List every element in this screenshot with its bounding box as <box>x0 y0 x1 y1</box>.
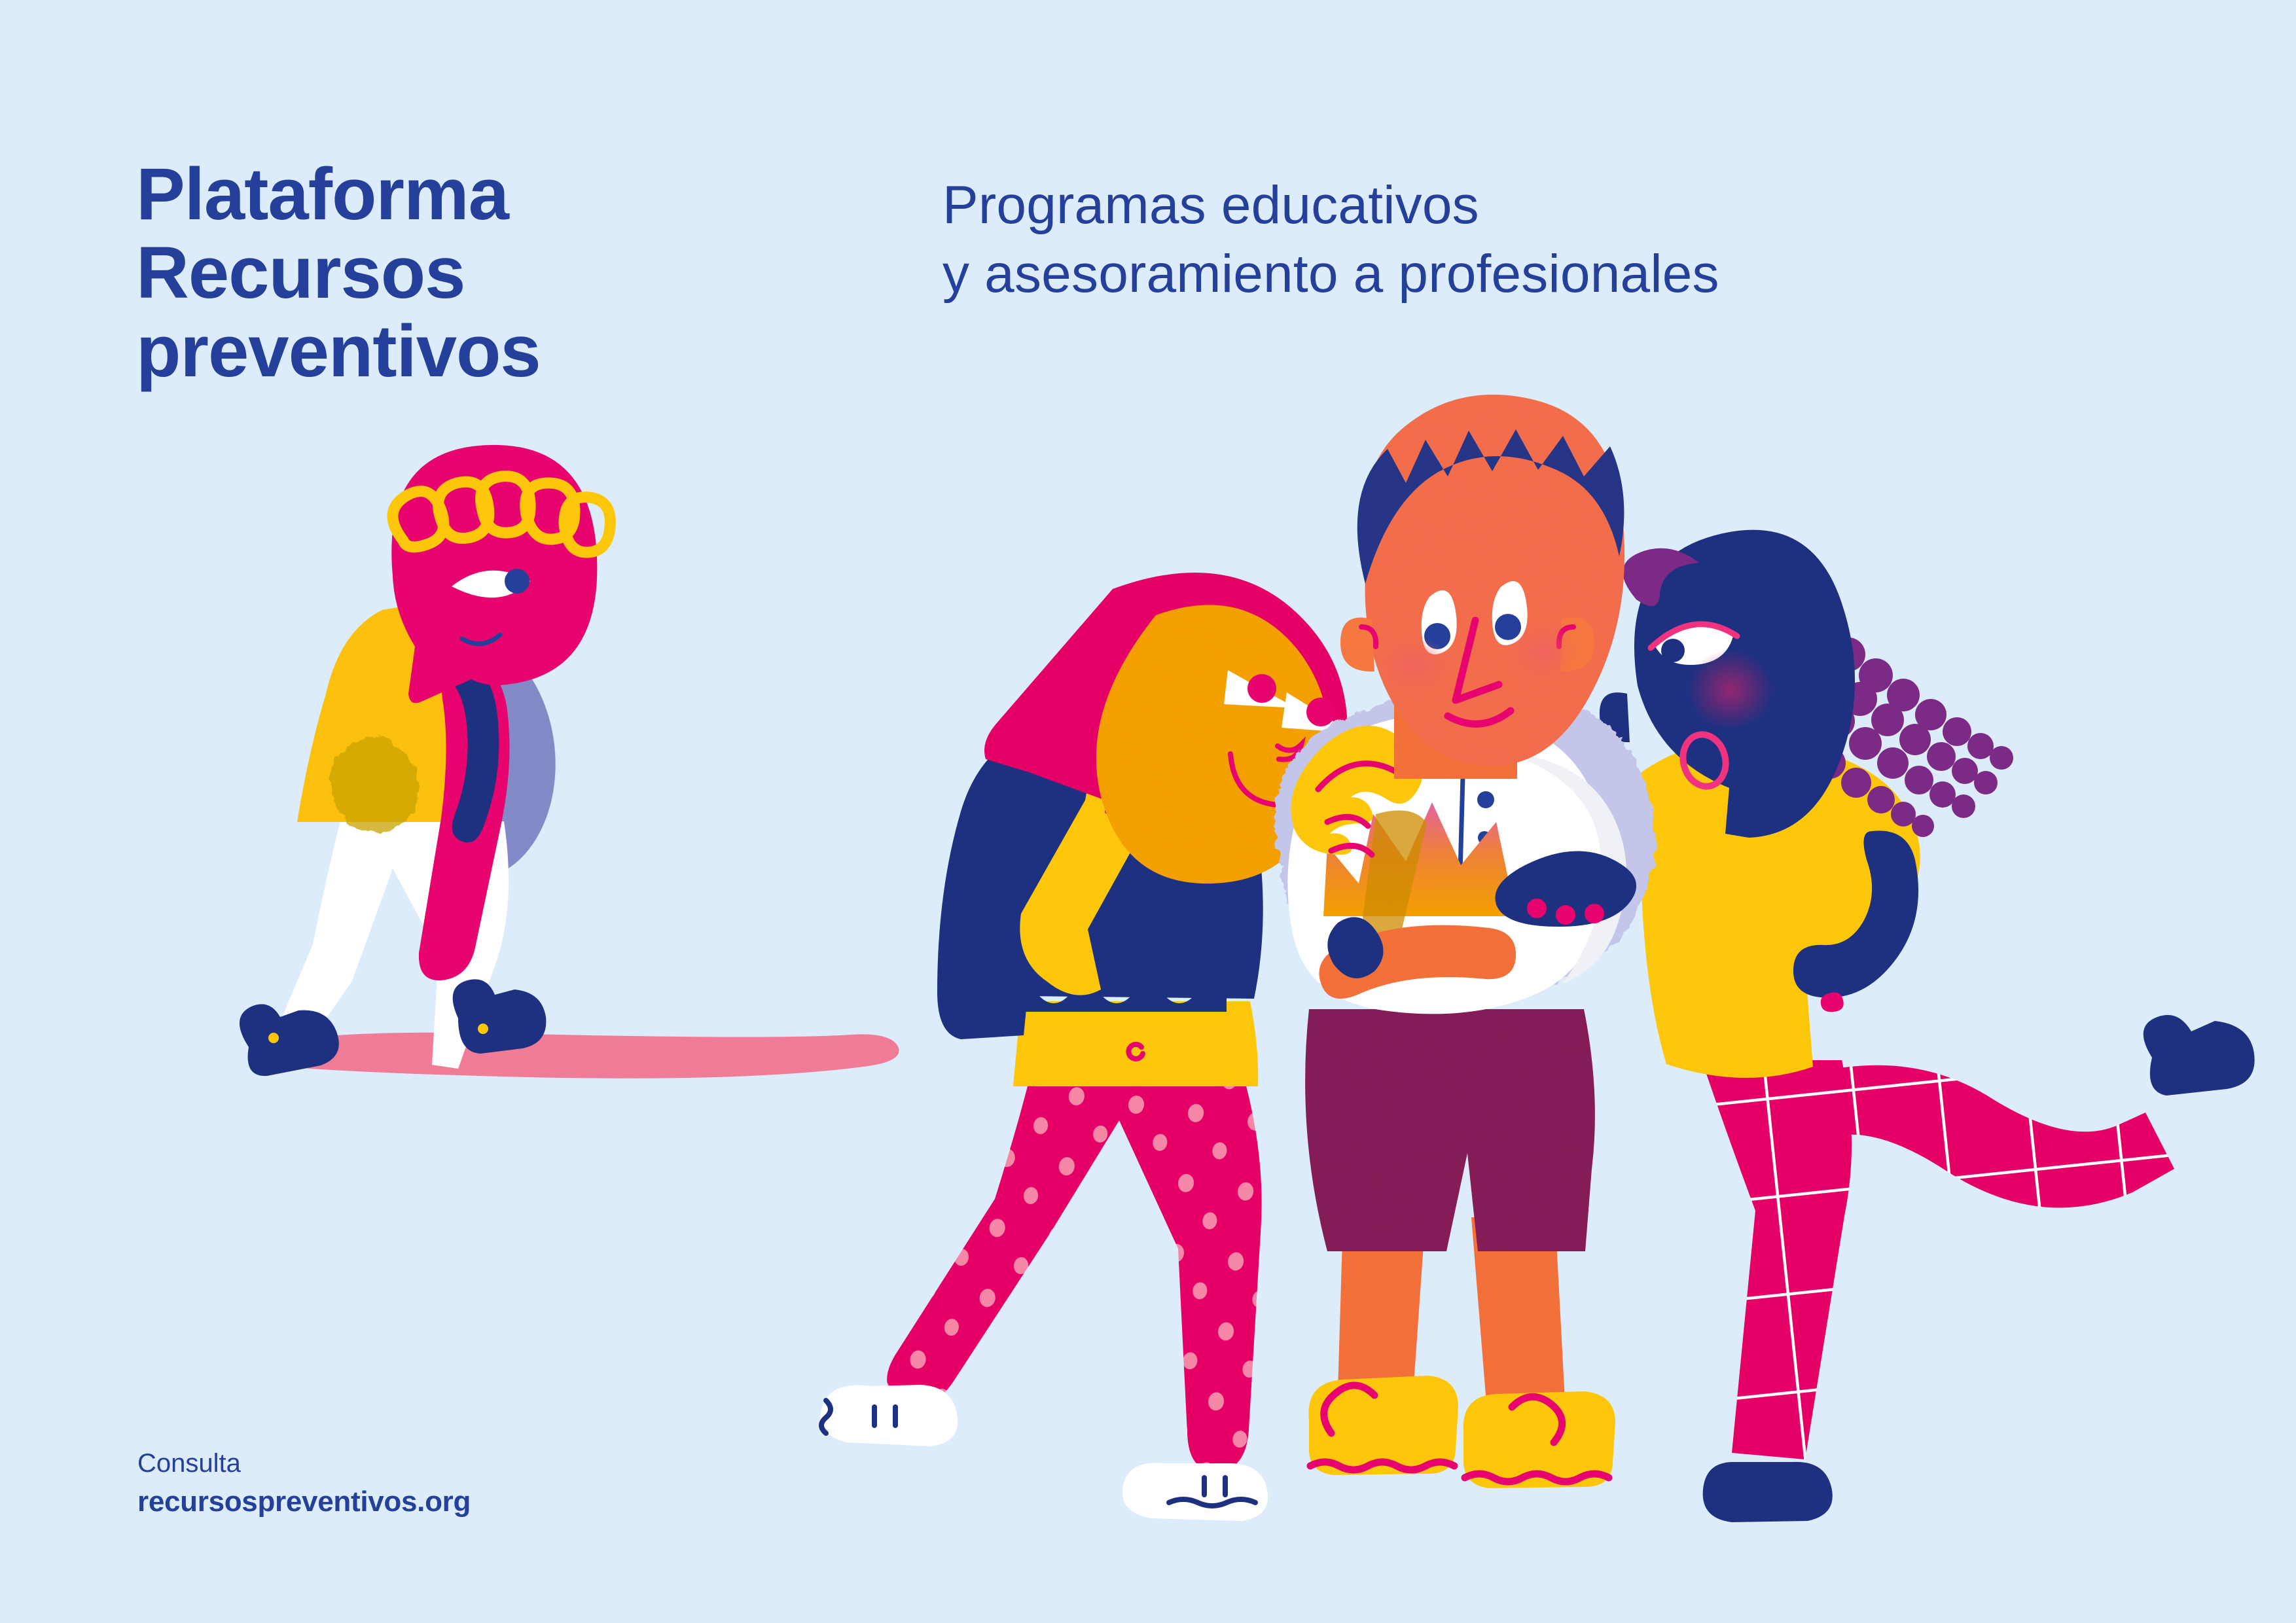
boy-cheek-left <box>1377 636 1450 694</box>
girl-right-eye <box>1655 626 1733 665</box>
boy-button-1 <box>1477 791 1494 808</box>
girl-left-nose <box>1278 745 1301 760</box>
boy-head <box>1362 395 1624 766</box>
boy-hoodie-placket <box>1460 753 1463 897</box>
page-title: Plataforma Recursos preventivos <box>136 155 541 390</box>
girl-left-eye-1 <box>1224 670 1296 708</box>
page-subtitle: Programas educativos y asesoramiento a p… <box>942 171 1719 309</box>
boy-cheek-right <box>1509 624 1577 679</box>
girl-left-top-hem <box>1007 986 1227 1012</box>
boy-mouth <box>1448 711 1511 724</box>
girl-left-midriff <box>1013 1001 1258 1086</box>
girl-left-face <box>1096 605 1329 883</box>
boy-hoodie-fuzz <box>1275 689 1655 996</box>
boy-button-2 <box>1478 831 1491 844</box>
girl-right-leg-up <box>1813 1065 2174 1208</box>
girl-right-pupil <box>1661 639 1685 662</box>
boy-neck <box>1394 654 1517 779</box>
boy-pupil-left <box>1424 623 1450 649</box>
boy-leg-right <box>1471 1217 1567 1444</box>
girl-left-top <box>937 714 1263 1039</box>
girl-left-pupil-2 <box>1306 698 1335 726</box>
boy-boot-left <box>1308 1376 1458 1475</box>
boy-eye-left <box>1422 590 1457 654</box>
poster-canvas: Plataforma Recursos preventivos Programa… <box>0 0 2296 1623</box>
walker-backpack <box>362 623 567 889</box>
boy-ear-left <box>1340 618 1374 671</box>
girl-right-hand-on-shoulder <box>1495 851 1636 927</box>
footer-contact: Consulta recursospreventivos.org <box>137 1446 471 1520</box>
walker-shoe-left <box>240 1004 339 1076</box>
girl-right-top <box>1640 740 1920 1078</box>
walker-shirt-shade <box>330 738 420 833</box>
girl-right-fringe <box>1623 548 1699 607</box>
walker-backpack-strap <box>420 642 499 842</box>
boy-hoodie <box>1287 715 1604 1014</box>
walker-shadow <box>249 1033 899 1079</box>
walker-mouth <box>462 635 500 644</box>
walker-hair <box>393 476 610 552</box>
boy-leg-left <box>1336 1217 1426 1440</box>
boy-forearm <box>1319 925 1516 999</box>
girl-right-shoe-down <box>1703 1462 1833 1522</box>
girl-left-mouth <box>1230 754 1278 805</box>
walker-pupil <box>505 569 529 594</box>
girl-left-pupil-1 <box>1247 674 1276 703</box>
boy-boot-right <box>1463 1391 1615 1488</box>
footer-label: Consulta <box>137 1446 471 1480</box>
boy-cuff <box>1327 917 1383 978</box>
figure-boy-center <box>1275 395 1655 1488</box>
boy-hoodie-flame <box>1323 802 1545 916</box>
girl-right-arm <box>1793 830 1918 997</box>
girl-left-hand-on-shoulder <box>1291 726 1422 855</box>
figure-lone-walker <box>240 445 899 1079</box>
girl-right-fingernails <box>1527 899 1604 925</box>
girl-right-shoe-up <box>2144 1015 2255 1096</box>
boy-hair <box>1357 429 1624 584</box>
boy-shorts <box>1305 1009 1595 1251</box>
girl-right-cheek <box>1687 649 1774 730</box>
girl-left-eye-2 <box>1282 692 1352 733</box>
girl-right-eyelid <box>1651 624 1737 648</box>
girl-right-mouth <box>1677 730 1731 791</box>
girl-right-braids <box>1696 546 2013 837</box>
girl-right-nail <box>1821 992 1844 1012</box>
boy-pupil-right <box>1495 614 1521 640</box>
walker-trousers <box>266 821 509 1069</box>
girl-left-navel <box>1128 1044 1143 1059</box>
figure-girl-left <box>821 573 1352 1521</box>
girl-right-ear <box>1600 692 1630 742</box>
walker-shoe-right <box>453 979 547 1054</box>
footer-website[interactable]: recursospreventivos.org <box>137 1483 471 1520</box>
walker-eye <box>452 571 530 597</box>
boy-nose <box>1456 620 1499 700</box>
girl-left-trousers <box>887 1081 1261 1471</box>
girl-left-shoe-front <box>1122 1463 1268 1521</box>
walker-head <box>391 445 597 703</box>
girl-right-leg-down <box>1702 1060 1852 1459</box>
boy-ear-right <box>1560 618 1594 671</box>
girl-right-head <box>1634 530 1855 838</box>
figure-girl-right <box>1600 530 2255 1522</box>
girl-left-shoe-back <box>821 1385 958 1446</box>
girl-left-hand <box>1085 732 1179 855</box>
walker-arm <box>419 654 510 980</box>
boy-eye-right <box>1492 581 1528 645</box>
boy-button-3 <box>1475 865 1492 882</box>
girl-left-hair <box>984 573 1348 832</box>
girl-left-arm <box>1020 744 1170 995</box>
walker-shirt <box>297 597 508 822</box>
